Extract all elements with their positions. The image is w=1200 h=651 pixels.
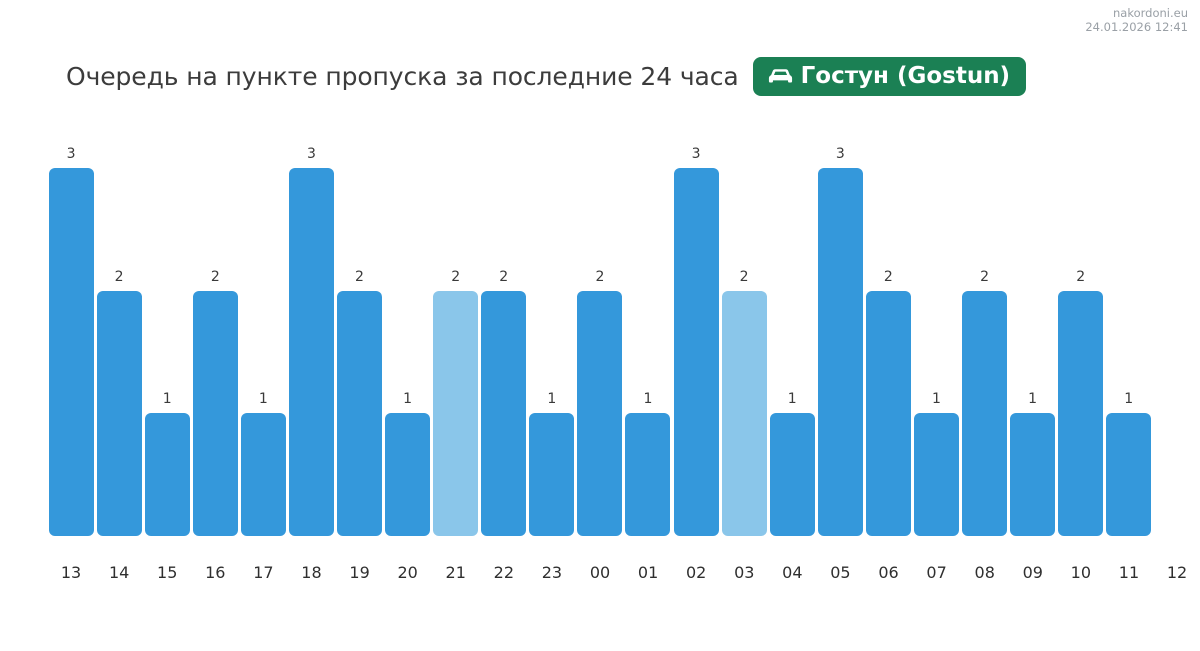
- bar-value-label: 3: [692, 147, 701, 161]
- x-axis-tick: 20: [397, 563, 417, 582]
- bar-value-label: 2: [1076, 270, 1085, 284]
- x-axis-tick: 01: [638, 563, 658, 582]
- bar-rect[interactable]: [337, 291, 382, 536]
- bar-value-label: 2: [211, 270, 220, 284]
- bar-rect[interactable]: [193, 291, 238, 536]
- bar-slot[interactable]: 2: [576, 140, 624, 536]
- bar-value-label: 2: [980, 270, 989, 284]
- bar-value-label: 2: [740, 270, 749, 284]
- x-axis-tick: 13: [61, 563, 81, 582]
- bar-slot[interactable]: 1: [768, 140, 816, 536]
- bar-value-label: 1: [644, 392, 653, 406]
- x-axis-tick: 12: [1167, 563, 1187, 582]
- bar-value-label: 1: [403, 392, 412, 406]
- bar-rect[interactable]: [722, 291, 767, 536]
- bar-rect[interactable]: [1106, 413, 1151, 536]
- bar-rect[interactable]: [145, 413, 190, 536]
- bar-rect[interactable]: [866, 291, 911, 536]
- bar-value-label: 3: [307, 147, 316, 161]
- bar-value-label: 2: [355, 270, 364, 284]
- bar-slot[interactable]: 3: [816, 140, 864, 536]
- x-axis-tick: 18: [301, 563, 321, 582]
- x-axis-tick: 09: [1023, 563, 1043, 582]
- bar-value-label: 1: [547, 392, 556, 406]
- bar-value-label: 2: [115, 270, 124, 284]
- bar-value-label: 3: [67, 147, 76, 161]
- x-axis-tick: 17: [253, 563, 273, 582]
- bar-rect[interactable]: [385, 413, 430, 536]
- bar-slot[interactable]: 2: [432, 140, 480, 536]
- bar-slot[interactable]: 2: [480, 140, 528, 536]
- x-axis-tick: 08: [975, 563, 995, 582]
- x-axis-tick: 15: [157, 563, 177, 582]
- bar-slot[interactable]: 1: [384, 140, 432, 536]
- x-axis-tick: 06: [878, 563, 898, 582]
- bar-slot[interactable]: 2: [191, 140, 239, 536]
- bar-rect[interactable]: [289, 168, 334, 536]
- bar-slot[interactable]: 3: [672, 140, 720, 536]
- x-axis-tick: 22: [494, 563, 514, 582]
- bar-slot[interactable]: 2: [335, 140, 383, 536]
- bar-value-label: 3: [836, 147, 845, 161]
- bar-rect[interactable]: [529, 413, 574, 536]
- bar-slot[interactable]: 3: [287, 140, 335, 536]
- bar-rect[interactable]: [962, 291, 1007, 536]
- queue-bar-chart: 32121321221213213212121 1314151617181920…: [0, 0, 1200, 651]
- bar-rect[interactable]: [625, 413, 670, 536]
- x-axis-tick: 04: [782, 563, 802, 582]
- x-axis-tick: 10: [1071, 563, 1091, 582]
- x-axis-tick: 07: [926, 563, 946, 582]
- bar-slot[interactable]: 1: [912, 140, 960, 536]
- bar-rect[interactable]: [481, 291, 526, 536]
- bar-slot[interactable]: 2: [1057, 140, 1105, 536]
- bar-value-label: 2: [884, 270, 893, 284]
- x-axis-tick: 21: [446, 563, 466, 582]
- bar-value-label: 1: [163, 392, 172, 406]
- bar-rect[interactable]: [433, 291, 478, 536]
- x-axis-tick: 19: [349, 563, 369, 582]
- bar-rect[interactable]: [241, 413, 286, 536]
- x-axis-tick: 00: [590, 563, 610, 582]
- x-axis-tick: 11: [1119, 563, 1139, 582]
- bar-value-label: 1: [1124, 392, 1133, 406]
- bar-rect[interactable]: [577, 291, 622, 536]
- bar-value-label: 1: [259, 392, 268, 406]
- bars-container: 32121321221213213212121: [47, 140, 1153, 536]
- bar-value-label: 2: [499, 270, 508, 284]
- bar-value-label: 2: [451, 270, 460, 284]
- bar-slot[interactable]: 1: [239, 140, 287, 536]
- bar-rect[interactable]: [49, 168, 94, 536]
- bar-slot[interactable]: 2: [960, 140, 1008, 536]
- x-axis-tick: 05: [830, 563, 850, 582]
- x-axis-tick: 14: [109, 563, 129, 582]
- bar-slot[interactable]: 1: [528, 140, 576, 536]
- bar-slot[interactable]: 3: [47, 140, 95, 536]
- bar-rect[interactable]: [1058, 291, 1103, 536]
- bar-slot[interactable]: 1: [624, 140, 672, 536]
- x-axis-tick: 02: [686, 563, 706, 582]
- bar-slot[interactable]: 2: [864, 140, 912, 536]
- bar-value-label: 1: [788, 392, 797, 406]
- bar-slot[interactable]: 1: [1009, 140, 1057, 536]
- bar-rect[interactable]: [914, 413, 959, 536]
- bar-value-label: 2: [595, 270, 604, 284]
- bar-slot[interactable]: 1: [1105, 140, 1153, 536]
- bar-slot[interactable]: 1: [143, 140, 191, 536]
- bar-rect[interactable]: [97, 291, 142, 536]
- bar-value-label: 1: [1028, 392, 1037, 406]
- bar-rect[interactable]: [1010, 413, 1055, 536]
- bar-rect[interactable]: [818, 168, 863, 536]
- x-axis-tick: 23: [542, 563, 562, 582]
- x-axis-tick: 03: [734, 563, 754, 582]
- bar-slot[interactable]: 2: [720, 140, 768, 536]
- bar-slot[interactable]: 2: [95, 140, 143, 536]
- bar-rect[interactable]: [674, 168, 719, 536]
- bar-value-label: 1: [932, 392, 941, 406]
- x-axis: 1314151617181920212223000102030405060708…: [47, 563, 1153, 591]
- bar-rect[interactable]: [770, 413, 815, 536]
- x-axis-tick: 16: [205, 563, 225, 582]
